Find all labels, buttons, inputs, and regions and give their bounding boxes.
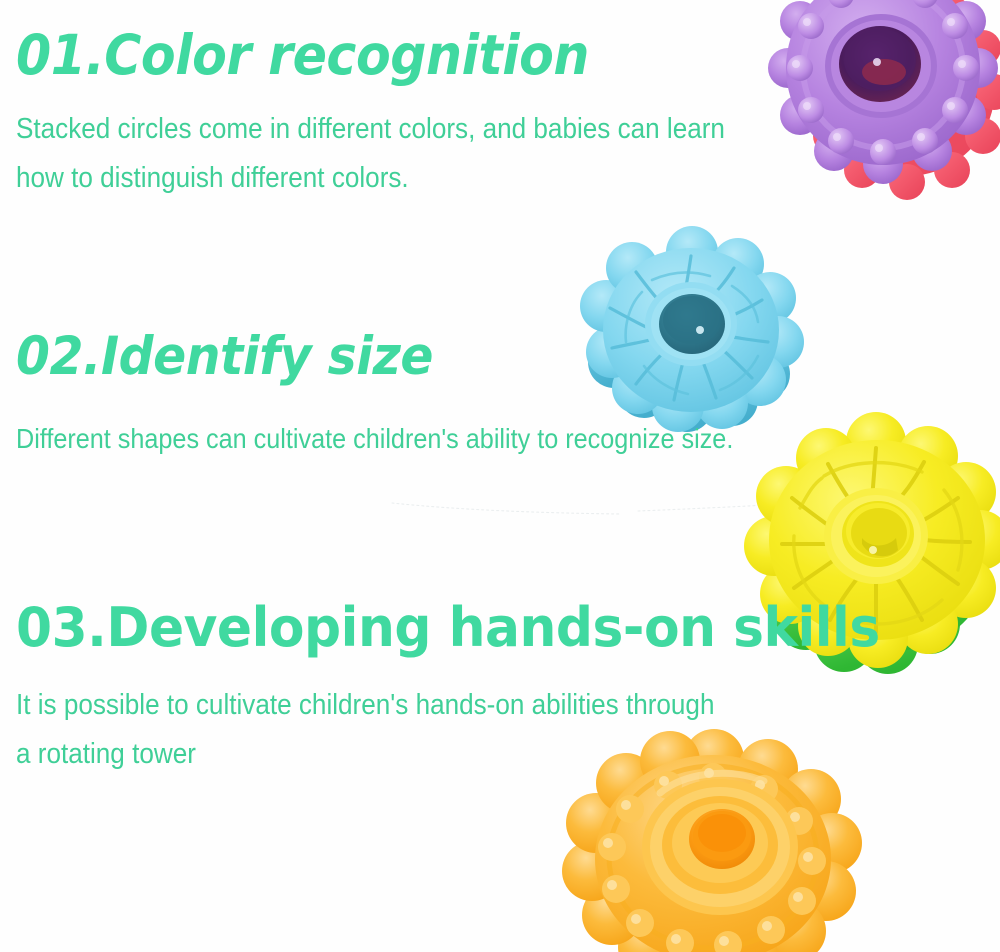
purple-stacking-ring — [778, 0, 1000, 200]
feature-3-body: It is possible to cultivate children's h… — [16, 681, 826, 778]
feature-1-heading: 01.Color recognition — [16, 28, 741, 83]
feature-1-body: Stacked circles come in different colors… — [16, 105, 725, 202]
feature-section-1: 01.Color recognition Stacked circles com… — [16, 28, 804, 202]
feature-section-2: 02.Identify size Different shapes can cu… — [16, 330, 813, 462]
feature-3-heading: 03.Developing hands-on skills — [16, 601, 880, 655]
feature-2-heading: 02.Identify size — [16, 330, 749, 383]
feature-2-body: Different shapes can cultivate children'… — [16, 415, 733, 462]
infographic-page: 01.Color recognition Stacked circles com… — [0, 0, 1000, 952]
feature-section-3: 03.Developing hands-on skills It is poss… — [16, 601, 916, 778]
